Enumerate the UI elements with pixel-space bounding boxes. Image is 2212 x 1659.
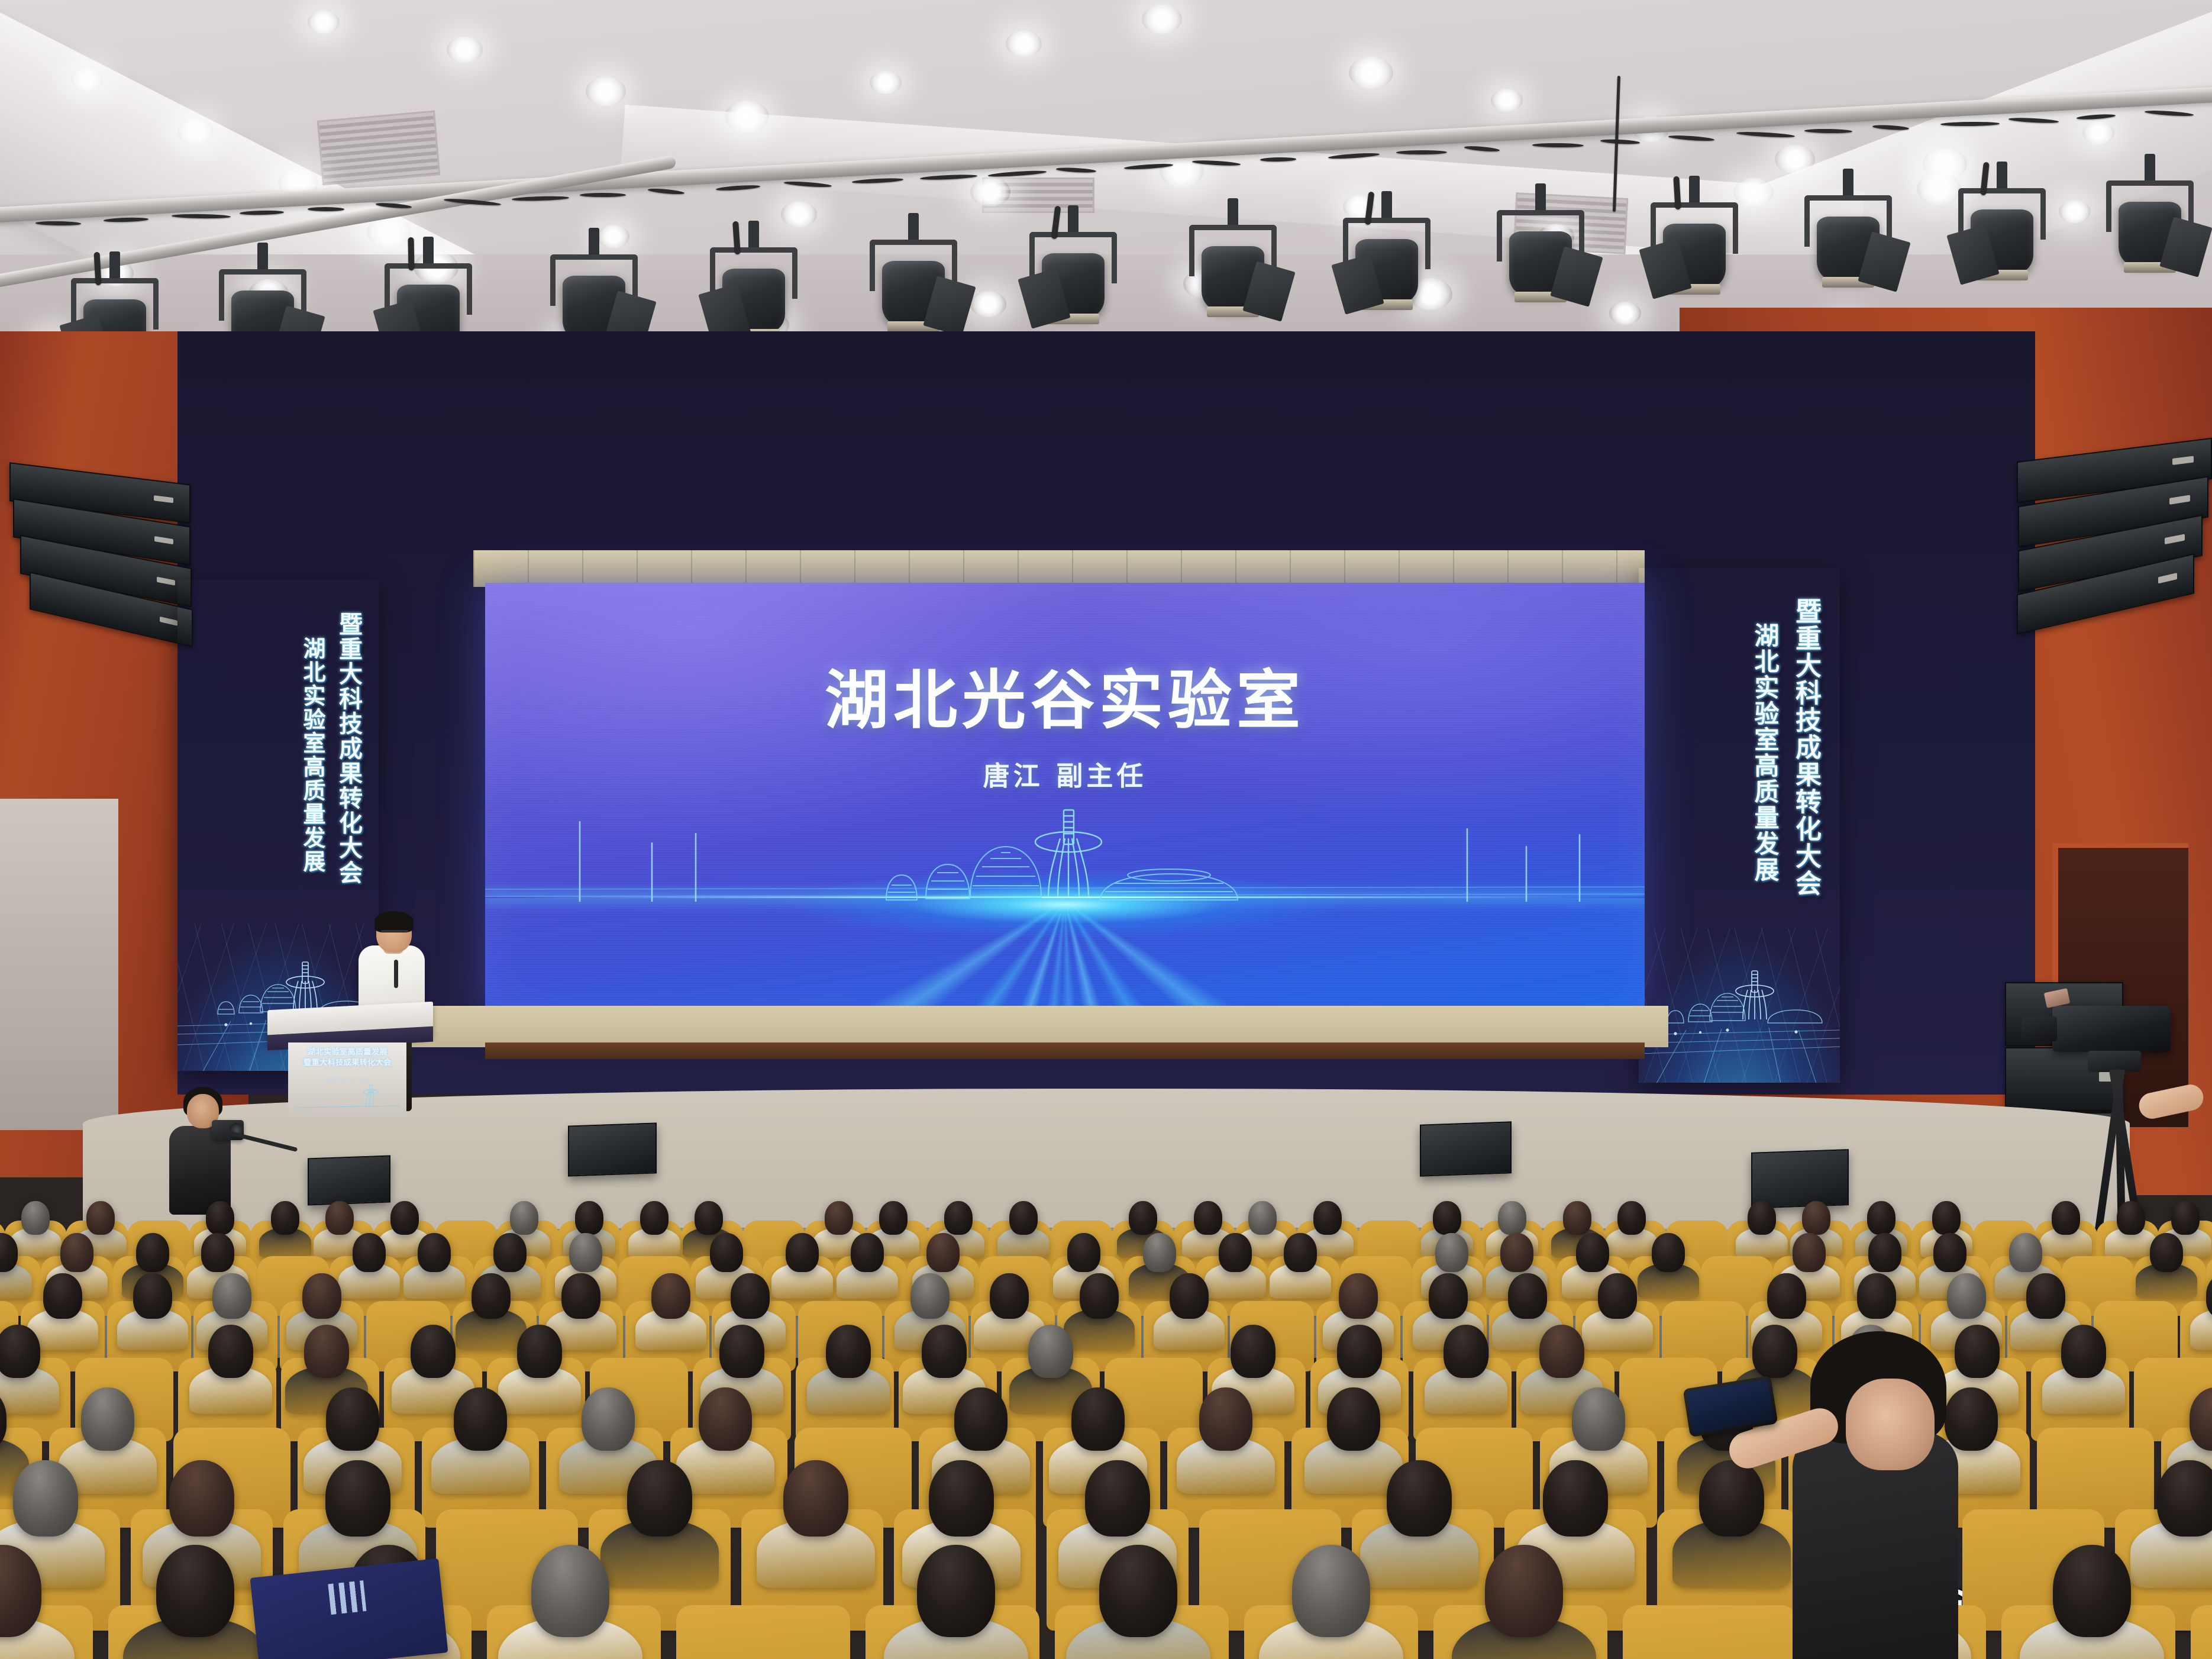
stage-light-fixture xyxy=(1189,225,1277,314)
audience-head xyxy=(208,1325,253,1378)
audience-head xyxy=(910,1273,950,1319)
fixture-hook xyxy=(109,251,120,282)
audience-head xyxy=(1857,1273,1896,1319)
podium-front-screen: 湖北实验室高质量发展 暨重大科技成果转化大会 2024年5月 武汉·光谷 xyxy=(296,1040,399,1110)
audience-head xyxy=(1598,1273,1637,1319)
audience-head xyxy=(1867,1201,1895,1235)
audience-head xyxy=(569,1233,602,1272)
stage-light-fixture xyxy=(710,247,797,336)
audience-head xyxy=(1748,1201,1776,1235)
stage-light-fixture xyxy=(1343,218,1430,306)
audience-head xyxy=(517,1325,562,1378)
audience-head xyxy=(390,1201,419,1235)
fixture-hook xyxy=(589,228,599,258)
side-panel-text-line2: 湖北实验室高质量发展 xyxy=(1747,622,1783,883)
audience-head xyxy=(206,1201,234,1235)
audience-head xyxy=(411,1325,456,1378)
stage-light-fixture xyxy=(1651,202,1738,291)
audience-head xyxy=(1433,1201,1461,1235)
stage-light-fixture xyxy=(1804,195,1892,284)
audience-head xyxy=(212,1273,251,1319)
audience-head xyxy=(582,1387,635,1451)
audience-head xyxy=(2026,1273,2065,1319)
fixture-hook xyxy=(1689,176,1700,206)
side-panel-text-line2: 湖北实验室高质量发展 xyxy=(296,637,329,873)
audience-head xyxy=(1652,1233,1685,1272)
stage-light-fixture xyxy=(870,240,957,328)
audience-head xyxy=(1802,1201,1830,1235)
audience-head xyxy=(60,1233,93,1272)
stage-lip-trim xyxy=(485,1042,1645,1059)
downlight xyxy=(2082,121,2114,144)
audience-head xyxy=(1170,1273,1209,1319)
side-led-panel-left: 暨重大科技成果转化大会 湖北实验室高质量发展 xyxy=(177,580,379,1071)
downlight xyxy=(781,201,817,227)
led-screen-subtitle: 唐江 副主任 xyxy=(485,754,1645,793)
audience-seat xyxy=(680,1609,846,1659)
audience-head xyxy=(81,1387,134,1451)
stage-riser-band xyxy=(379,1006,1668,1047)
fixture-power-cable xyxy=(408,237,415,270)
stage-light-fixture xyxy=(1958,188,2046,277)
downlight xyxy=(870,71,902,94)
audience-member-with-phone xyxy=(1775,1331,1970,1659)
audience-head xyxy=(1793,1233,1826,1272)
audience-head xyxy=(13,1460,77,1537)
audience-head xyxy=(1563,1201,1591,1235)
floor-monitor xyxy=(1420,1121,1512,1176)
audience-head xyxy=(719,1325,764,1378)
downlight xyxy=(1609,302,1641,325)
audience-head xyxy=(1868,1233,1901,1272)
audience-head xyxy=(1572,1387,1625,1451)
audience-head xyxy=(1435,1233,1468,1272)
audience-head xyxy=(1085,1460,1149,1537)
audience-head xyxy=(326,1387,379,1451)
audience-head xyxy=(783,1460,848,1537)
audience-head xyxy=(2117,1201,2145,1235)
audience-head xyxy=(1339,1273,1378,1319)
side-panel-text-line1: 暨重大科技成果转化大会 xyxy=(1787,598,1825,897)
downlight xyxy=(1491,89,1523,112)
audience-head xyxy=(1500,1233,1533,1272)
fixture-hook xyxy=(1535,183,1546,214)
audience-head xyxy=(1099,1545,1178,1637)
wall-left-lower xyxy=(0,799,118,1130)
audience-head xyxy=(929,1460,993,1537)
audience-head xyxy=(201,1233,234,1272)
audience-head xyxy=(575,1201,603,1235)
audience-head xyxy=(1337,1325,1382,1378)
downlight xyxy=(71,68,103,91)
line-array-right xyxy=(1999,450,2212,663)
downlight xyxy=(1923,148,1967,180)
audience-head xyxy=(561,1273,600,1319)
downlight xyxy=(586,77,626,106)
audience-head xyxy=(825,1201,853,1235)
audience-head xyxy=(990,1273,1029,1319)
audience-head xyxy=(302,1273,341,1319)
main-led-screen: 湖北光谷实验室 唐江 副主任 xyxy=(485,583,1645,1018)
floor-monitor xyxy=(308,1156,390,1206)
audience-head xyxy=(1009,1201,1038,1235)
downlight xyxy=(725,101,769,133)
audience-head xyxy=(43,1273,82,1319)
audience-head xyxy=(1284,1233,1317,1272)
fixture-hook xyxy=(2145,154,2155,184)
fixture-hook xyxy=(1381,191,1392,221)
audience-head xyxy=(1080,1273,1119,1319)
audience-head xyxy=(454,1387,507,1451)
audience-head xyxy=(922,1325,967,1378)
side-panel-text-line1: 暨重大科技成果转化大会 xyxy=(331,612,366,885)
downlight xyxy=(177,118,214,144)
audience-head xyxy=(353,1233,386,1272)
downlight xyxy=(1349,57,1393,89)
audience-head xyxy=(1543,1460,1607,1537)
floor-monitor xyxy=(568,1122,657,1176)
audience-head xyxy=(472,1273,511,1319)
audience-head xyxy=(1199,1387,1252,1451)
audience-head xyxy=(1576,1233,1609,1272)
audience-head xyxy=(1248,1201,1277,1235)
audience-head xyxy=(2053,1545,2132,1637)
video-camera-body xyxy=(2052,1006,2171,1052)
audience-head xyxy=(169,1460,234,1537)
audience-head xyxy=(1498,1201,1526,1235)
audience-seat xyxy=(1627,1609,1793,1659)
audience-head xyxy=(731,1273,770,1319)
stage-light-fixture xyxy=(1497,210,1584,299)
audience-head xyxy=(1617,1201,1646,1235)
fixture-hook xyxy=(1068,205,1078,235)
audience-head xyxy=(1219,1233,1252,1272)
audience-head xyxy=(493,1233,527,1272)
audience-head xyxy=(1932,1201,1961,1235)
downlight xyxy=(1142,5,1182,34)
audience-head xyxy=(1071,1387,1125,1451)
floor-monitor xyxy=(1751,1149,1849,1209)
audience-head xyxy=(1313,1201,1342,1235)
audience-head xyxy=(1444,1325,1488,1378)
audience-head xyxy=(325,1460,390,1537)
audience-head xyxy=(136,1233,169,1272)
fixture-hook xyxy=(1843,169,1853,199)
fixture-hook xyxy=(257,243,268,273)
audience-head xyxy=(1231,1325,1275,1378)
phone-screen xyxy=(1687,1380,1774,1434)
led-valance-strip xyxy=(473,550,1645,587)
audience-head xyxy=(1429,1273,1468,1319)
audience-head xyxy=(710,1233,743,1272)
downlight xyxy=(308,11,340,34)
audience-head xyxy=(1539,1325,1584,1378)
audience-head xyxy=(640,1201,669,1235)
audience-head xyxy=(695,1201,723,1235)
side-led-panel-right: 暨重大科技成果转化大会 湖北实验室高质量发展 xyxy=(1639,568,1840,1083)
audience-head xyxy=(531,1545,610,1637)
audience-head xyxy=(271,1201,299,1235)
fixture-hook xyxy=(1997,162,2007,192)
fixture-hook xyxy=(423,237,434,267)
audience-head xyxy=(786,1233,819,1272)
led-screen-title: 湖北光谷实验室 xyxy=(485,649,1645,741)
audience-head xyxy=(917,1545,996,1637)
podium-text-line1: 湖北实验室高质量发展 xyxy=(296,1047,399,1058)
downlight xyxy=(1775,145,1815,174)
audience-head xyxy=(1143,1233,1176,1272)
ac-vent-left xyxy=(317,110,441,185)
audience-head xyxy=(1933,1233,1966,1272)
stage-light-fixture xyxy=(2106,180,2194,269)
audience-head xyxy=(418,1233,451,1272)
audience-head xyxy=(2150,1233,2183,1272)
audience-head xyxy=(2052,1201,2080,1235)
camera-lens-hood-icon xyxy=(2022,1016,2057,1041)
audience-seat xyxy=(2195,1609,2212,1659)
audience-head xyxy=(1508,1273,1547,1319)
audience-head xyxy=(0,1325,40,1378)
downlight xyxy=(598,225,629,248)
audience-head xyxy=(304,1325,349,1378)
audience-head xyxy=(510,1201,538,1235)
audience-head xyxy=(1767,1273,1806,1319)
glasses-icon xyxy=(381,930,408,932)
audience-head xyxy=(851,1233,884,1272)
downlight xyxy=(1006,31,1042,57)
stage-light-fixture xyxy=(550,254,638,343)
audience-head xyxy=(1699,1460,1764,1537)
audience-head xyxy=(325,1201,354,1235)
led-skyline-graphic xyxy=(485,808,1645,902)
fixture-hook xyxy=(1228,198,1238,228)
downlight xyxy=(2059,200,2091,223)
audience-head xyxy=(156,1545,235,1637)
audience-head xyxy=(2171,1201,2200,1235)
audience-head xyxy=(826,1325,871,1378)
phone-user-head xyxy=(1846,1379,1935,1470)
lapel-microphone xyxy=(394,960,398,988)
audience-head xyxy=(21,1201,50,1235)
audience-head xyxy=(133,1273,172,1319)
brochure-graphic xyxy=(328,1580,366,1615)
downlight xyxy=(970,291,1006,317)
fixture-hook xyxy=(748,221,759,251)
stage-light-fixture xyxy=(1029,232,1117,321)
audience-head xyxy=(1028,1325,1073,1378)
audience-head xyxy=(1485,1545,1564,1637)
audience-head xyxy=(879,1201,908,1235)
audience-head xyxy=(1387,1460,1451,1537)
downlight xyxy=(447,37,483,63)
downlight xyxy=(970,177,1010,206)
speaker-hair xyxy=(374,911,414,932)
fixture-hook xyxy=(908,213,919,243)
audience-head xyxy=(2009,1233,2042,1272)
audience-head xyxy=(651,1273,690,1319)
audience-head xyxy=(86,1201,115,1235)
audience-head xyxy=(954,1387,1007,1451)
audience-head xyxy=(926,1233,960,1272)
audience-head xyxy=(627,1460,692,1537)
audience-head xyxy=(2157,1460,2212,1537)
audience-head xyxy=(1947,1273,1986,1319)
podium-skyline-icon xyxy=(296,1080,399,1110)
audience-head xyxy=(1067,1233,1100,1272)
auditorium-scene: 暨重大科技成果转化大会 湖北实验室高质量发展 xyxy=(0,0,2212,1659)
podium-text-line2: 暨重大科技成果转化大会 xyxy=(296,1058,399,1069)
optics-valley-tower-icon xyxy=(1639,938,1840,1083)
audience-head xyxy=(1194,1201,1222,1235)
downlight xyxy=(1733,177,1774,206)
audience-head xyxy=(699,1387,752,1451)
audience-head xyxy=(1129,1201,1157,1235)
downlight xyxy=(1160,155,1204,187)
audience-head xyxy=(1292,1545,1371,1637)
audience-head xyxy=(944,1201,973,1235)
audience-head xyxy=(2061,1325,2106,1378)
line-array-left xyxy=(6,473,201,669)
audience-head xyxy=(1327,1387,1380,1451)
